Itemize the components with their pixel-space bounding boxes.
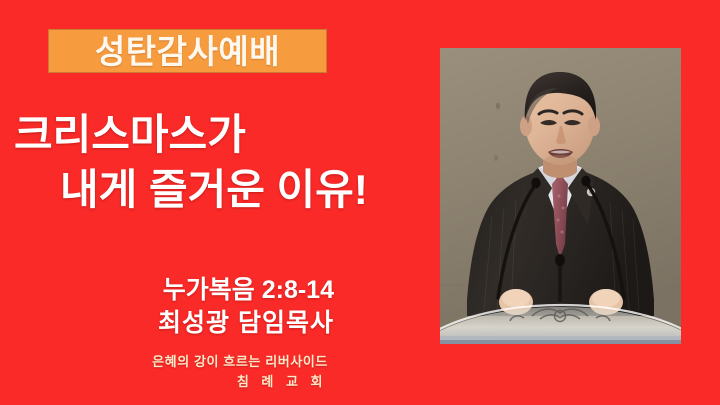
- church-name: 침 례 교 회: [0, 372, 328, 392]
- sermon-title-line-1: 크리스마스가: [0, 108, 430, 163]
- speaker-name: 최성광 담임목사: [0, 307, 334, 340]
- sermon-meta: 누가복음 2:8-14 최성광 담임목사: [0, 274, 334, 341]
- series-badge-label: 성탄감사예배: [95, 35, 280, 68]
- church-identity: 은혜의 강이 흐르는 리버사이드 침 례 교 회: [0, 352, 328, 392]
- speaker-photo-image: [440, 48, 681, 344]
- church-tagline: 은혜의 강이 흐르는 리버사이드: [0, 352, 328, 372]
- sermon-title: 크리스마스가 내게 즐거운 이유!: [0, 108, 430, 217]
- sermon-title-slide: 성탄감사예배 크리스마스가 내게 즐거운 이유! 누가복음 2:8-14 최성광…: [0, 0, 720, 405]
- speaker-photo: [440, 48, 681, 344]
- series-badge: 성탄감사예배: [48, 29, 327, 73]
- scripture-reference: 누가복음 2:8-14: [0, 274, 334, 307]
- sermon-title-line-2: 내게 즐거운 이유!: [0, 163, 430, 218]
